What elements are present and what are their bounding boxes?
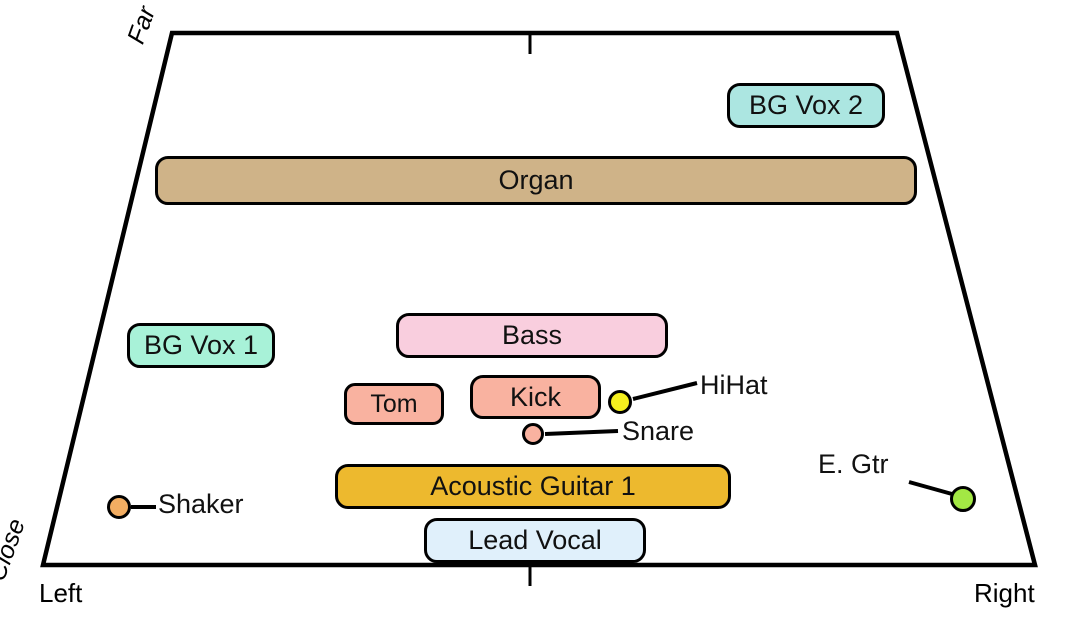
track-kick[interactable]: Kick (470, 375, 601, 419)
track-tom[interactable]: Tom (344, 383, 444, 425)
track-acoustic-guitar-1[interactable]: Acoustic Guitar 1 (335, 464, 731, 509)
track-bg-vox-1[interactable]: BG Vox 1 (127, 323, 275, 368)
stereo-field-diagram: Far Close Left Right BG Vox 2 Organ BG V… (0, 0, 1070, 629)
track-hihat-dot[interactable] (608, 390, 632, 414)
track-hihat-label: HiHat (700, 372, 768, 399)
track-lead-vocal[interactable]: Lead Vocal (424, 518, 646, 563)
track-bass[interactable]: Bass (396, 313, 668, 358)
track-organ[interactable]: Organ (155, 156, 917, 205)
axis-label-right: Right (974, 578, 1035, 609)
track-e-gtr-dot[interactable] (950, 486, 976, 512)
track-e-gtr-label: E. Gtr (818, 451, 889, 478)
track-shaker-label: Shaker (158, 491, 244, 518)
axis-label-left: Left (39, 578, 82, 609)
track-bg-vox-2[interactable]: BG Vox 2 (727, 83, 885, 128)
track-snare-label: Snare (622, 418, 694, 445)
track-snare-dot[interactable] (522, 423, 544, 445)
track-shaker-dot[interactable] (107, 495, 131, 519)
